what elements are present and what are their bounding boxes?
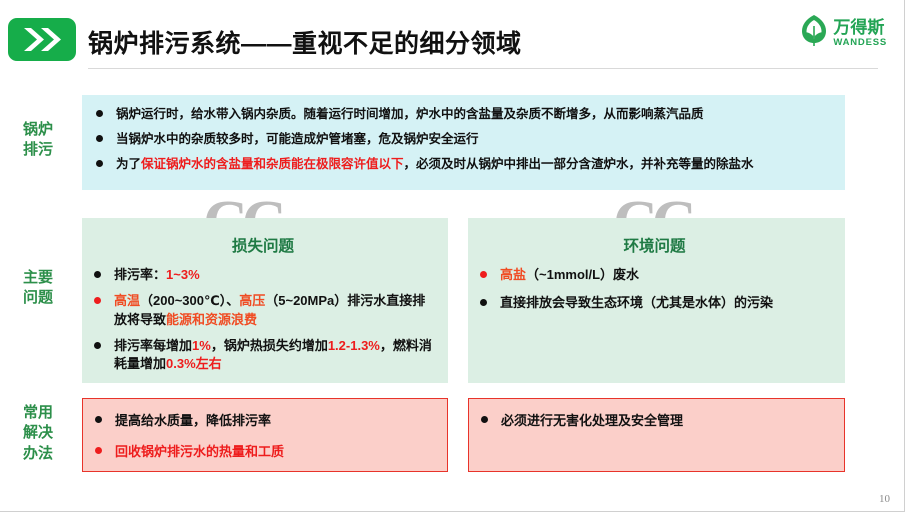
bullet-dot-icon <box>96 110 103 117</box>
bullet-text-run: 高压 <box>239 293 265 308</box>
bullet-item: 高盐（~1mmol/L）废水 <box>478 266 831 285</box>
leaf-plant-logo-icon <box>799 14 829 52</box>
bullet-list-box3: 高盐（~1mmol/L）废水直接排放会导致生态环境（尤其是水体）的污染 <box>478 266 831 313</box>
row-label-line: 常用 <box>8 403 68 423</box>
row-label-boiler-blowdown: 锅炉 排污 <box>8 120 68 161</box>
box2-heading: 损失问题 <box>92 234 434 256</box>
bullet-item: 必须进行无害化处理及安全管理 <box>479 411 830 431</box>
bullet-text-run: （200~300℃）、 <box>140 293 239 308</box>
bullet-text-run: ，必须及时从锅炉中排出一部分含渣炉水，并补充等量的除盐水 <box>404 157 754 171</box>
bullet-text-run: 锅炉运行时，给水带入锅内杂质。随着运行时间增加，炉水中的含盐量及杂质不断增多，从… <box>116 107 704 121</box>
bullet-dot-icon <box>96 135 103 142</box>
content-box-boiler-blowdown: 锅炉运行时，给水带入锅内杂质。随着运行时间增加，炉水中的含盐量及杂质不断增多，从… <box>82 95 845 190</box>
bullet-text-run: 为了 <box>116 157 141 171</box>
bullet-text-run: 高温 <box>114 293 140 308</box>
brand-logo: 万得斯 WANDESS <box>799 14 887 52</box>
bullet-item: 为了保证锅炉水的含盐量和杂质能在极限容许值以下，必须及时从锅炉中排出一部分含渣炉… <box>94 155 831 174</box>
bullet-dot-icon <box>481 416 488 423</box>
bullet-text-run: 直接排放会导致生态环境（尤其是水体）的污染 <box>500 295 773 310</box>
bullet-dot-icon <box>480 271 487 278</box>
bullet-text-run: 1% <box>192 338 211 353</box>
bullet-dot-icon <box>95 447 102 454</box>
row-label-line: 解决 <box>8 423 68 443</box>
logo-text-en: WANDESS <box>833 38 887 48</box>
bullet-item: 回收锅炉排污水的热量和工质 <box>93 442 433 462</box>
bullet-item: 提高给水质量，降低排污率 <box>93 411 433 431</box>
bullet-text-run: （~1mmol/L）废水 <box>526 267 639 282</box>
slide-canvas: 锅炉排污系统——重视不足的细分领域 万得斯 WANDESS CC CC 锅炉 排 <box>0 0 905 512</box>
bullet-text-run: 保证锅炉水的含盐量和杂质能在极限容许值以下 <box>141 157 404 171</box>
bullet-text-run: 能源和资源浪费 <box>166 312 257 327</box>
bullet-item: 直接排放会导致生态环境（尤其是水体）的污染 <box>478 294 831 313</box>
bullet-list-box4: 提高给水质量，降低排污率回收锅炉排污水的热量和工质 <box>93 411 433 461</box>
bullet-item: 排污率每增加1%，锅炉热损失约增加1.2-1.3%，燃料消耗量增加0.3%左右 <box>92 337 434 375</box>
bullet-list-box5: 必须进行无害化处理及安全管理 <box>479 411 830 431</box>
row-label-line: 主要 <box>8 268 68 288</box>
bullet-dot-icon <box>96 160 103 167</box>
bullet-list-box2: 排污率：1~3%高温（200~300℃）、高压（5~20MPa）排污水直接排放将… <box>92 266 434 374</box>
row-label-main-problems: 主要 问题 <box>8 268 68 309</box>
row-label-common-solutions: 常用 解决 办法 <box>8 403 68 464</box>
bullet-dot-icon <box>94 297 101 304</box>
page-title: 锅炉排污系统——重视不足的细分领域 <box>88 24 522 60</box>
bullet-dot-icon <box>94 271 101 278</box>
bullet-text-run: 高盐 <box>500 267 526 282</box>
double-chevron-right-icon <box>8 18 76 61</box>
content-box-loss-problems: 损失问题 排污率：1~3%高温（200~300℃）、高压（5~20MPa）排污水… <box>82 218 448 383</box>
bullet-dot-icon <box>480 299 487 306</box>
logo-text-cn: 万得斯 <box>833 19 887 36</box>
page-number: 10 <box>879 493 890 505</box>
bullet-text-run: 排污率每增加 <box>114 338 192 353</box>
bullet-item: 锅炉运行时，给水带入锅内杂质。随着运行时间增加，炉水中的含盐量及杂质不断增多，从… <box>94 105 831 124</box>
bullet-item: 排污率：1~3% <box>92 266 434 285</box>
bullet-text-run: 1~3% <box>166 267 200 282</box>
bullet-item: 当锅炉水中的杂质较多时，可能造成炉管堵塞，危及锅炉安全运行 <box>94 130 831 149</box>
bullet-text-run: ，锅炉热损失约增加 <box>211 338 328 353</box>
bullet-text-run: 当锅炉水中的杂质较多时，可能造成炉管堵塞，危及锅炉安全运行 <box>116 132 479 146</box>
bullet-text-run: 0.3%左右 <box>166 356 222 371</box>
row-label-line: 锅炉 <box>8 120 68 140</box>
bullet-list-box1: 锅炉运行时，给水带入锅内杂质。随着运行时间增加，炉水中的含盐量及杂质不断增多，从… <box>94 105 831 173</box>
bullet-text-run: 必须进行无害化处理及安全管理 <box>501 413 683 428</box>
title-divider <box>88 68 878 69</box>
bullet-text-run: 排污率： <box>114 267 166 282</box>
bullet-dot-icon <box>95 416 102 423</box>
bullet-dot-icon <box>94 342 101 349</box>
content-box-common-solutions-left: 提高给水质量，降低排污率回收锅炉排污水的热量和工质 <box>82 398 448 472</box>
slide-header: 锅炉排污系统——重视不足的细分领域 万得斯 WANDESS <box>0 0 905 80</box>
bullet-text-run: 提高给水质量，降低排污率 <box>115 413 271 428</box>
bullet-text-run: 1.2-1.3% <box>328 338 380 353</box>
row-label-line: 排污 <box>8 140 68 160</box>
box3-heading: 环境问题 <box>478 234 831 256</box>
row-label-line: 办法 <box>8 444 68 464</box>
row-label-line: 问题 <box>8 288 68 308</box>
bullet-item: 高温（200~300℃）、高压（5~20MPa）排污水直接排放将导致能源和资源浪… <box>92 292 434 330</box>
content-box-common-solutions-right: 必须进行无害化处理及安全管理 <box>468 398 845 472</box>
content-box-environment-problems: 环境问题 高盐（~1mmol/L）废水直接排放会导致生态环境（尤其是水体）的污染 <box>468 218 845 383</box>
bullet-text-run: 回收锅炉排污水的热量和工质 <box>115 444 284 459</box>
